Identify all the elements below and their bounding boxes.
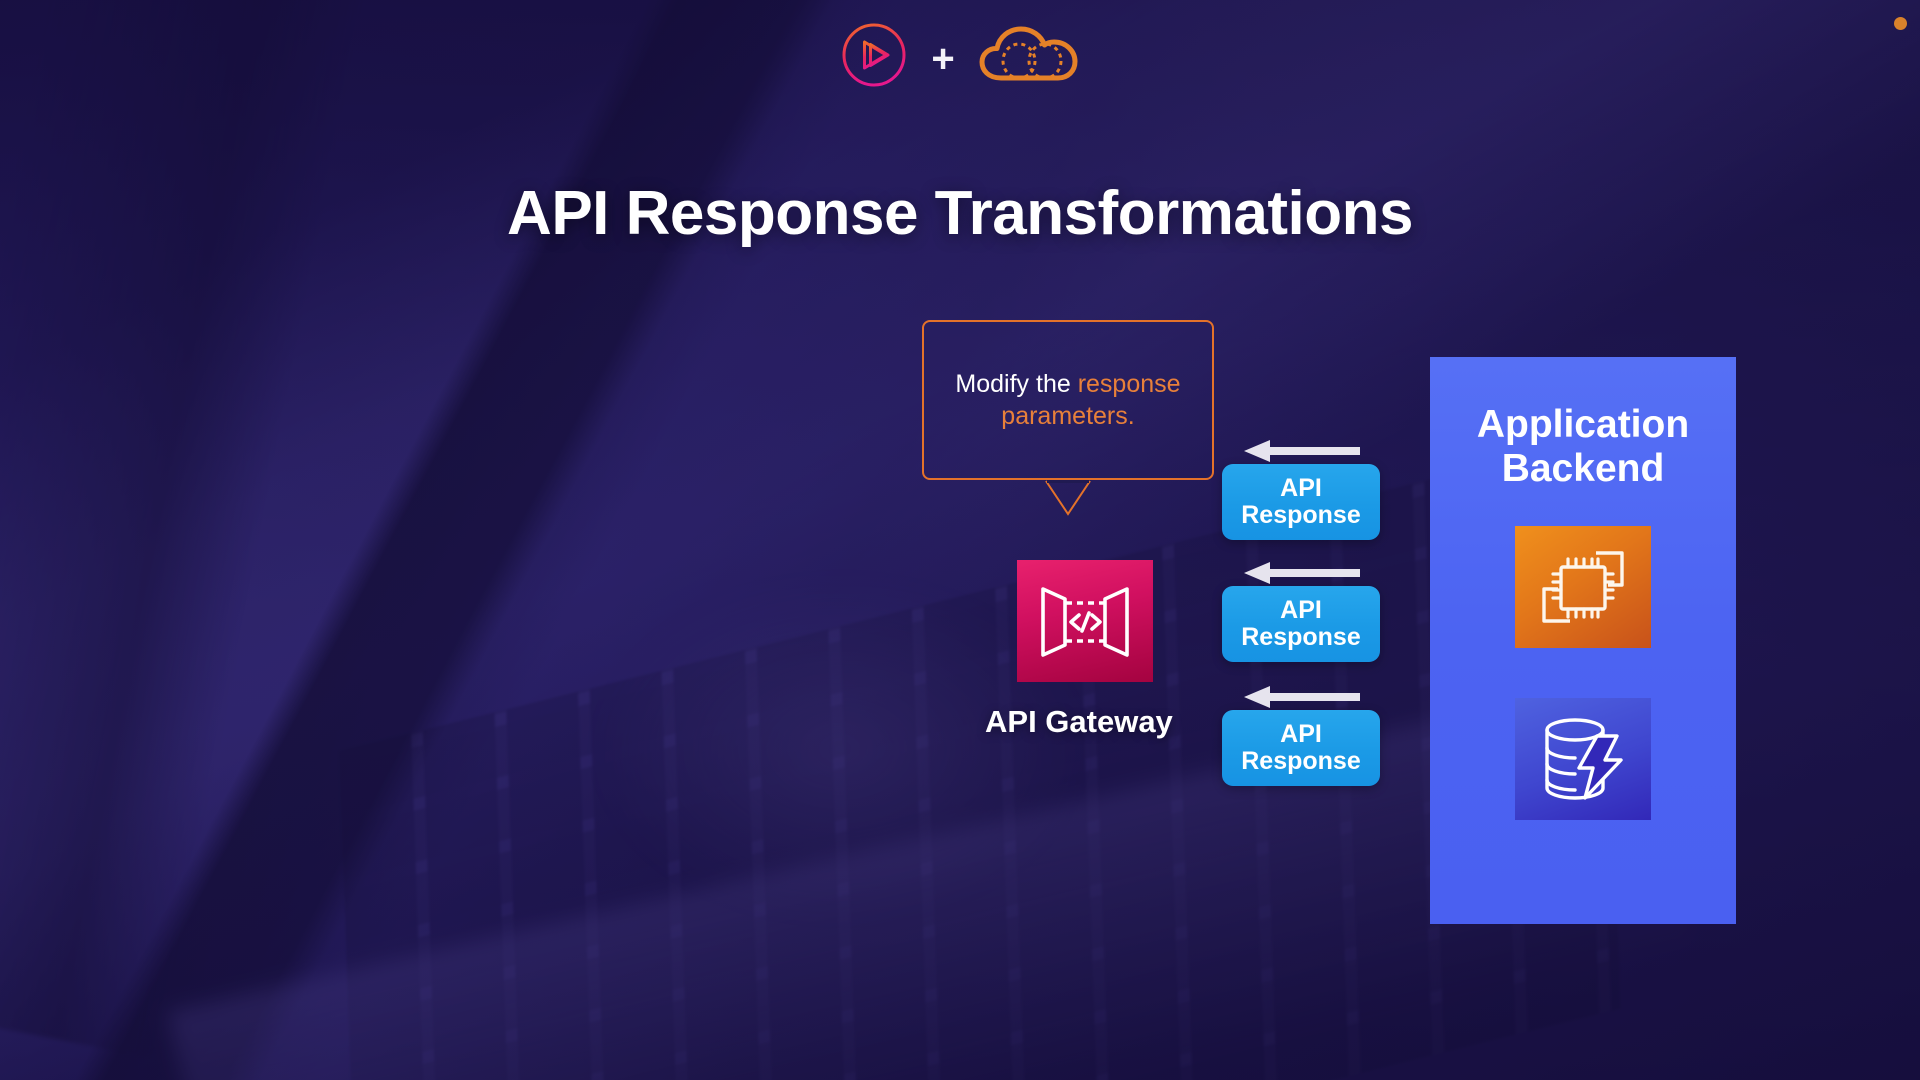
api-response-line1: API [1280,597,1322,624]
logo-row: + [0,20,1920,95]
api-response-column: API Response API Response [1222,438,1380,786]
api-response-line1: API [1280,721,1322,748]
api-response-unit: API Response [1222,438,1380,540]
backend-title-line2: Backend [1430,447,1736,491]
plus-separator: + [931,39,954,79]
cloud-logo-icon [977,20,1081,95]
arrow-left-icon [1244,438,1380,464]
backend-title-line1: Application [1430,403,1736,447]
arrow-left-icon [1244,684,1380,710]
corner-accent-dot [1894,17,1907,30]
api-response-box: API Response [1222,586,1380,662]
callout-tail-icon [1044,480,1092,518]
callout-text-period: . [1128,402,1135,430]
api-response-unit: API Response [1222,684,1380,786]
callout-text-plain: Modify the [955,370,1077,398]
compute-chip-icon [1515,526,1651,648]
api-response-unit: API Response [1222,560,1380,662]
page-title: API Response Transformations [0,178,1920,249]
application-backend-panel: Application Backend [1430,357,1736,924]
callout-bubble: Modify the response parameters. [922,320,1214,480]
postman-logo-icon [839,20,909,95]
api-response-box: API Response [1222,464,1380,540]
api-gateway-icon [1017,560,1153,682]
slide-canvas: + API Response Transformations Modify th… [0,0,1920,1080]
api-response-box: API Response [1222,710,1380,786]
spacer [1222,540,1380,560]
api-response-line1: API [1280,475,1322,502]
callout-text: Modify the response parameters. [924,368,1212,432]
arrow-left-icon [1244,560,1380,586]
api-gateway-node: API Gateway [1017,560,1173,740]
spacer [1222,662,1380,684]
backend-title: Application Backend [1430,403,1736,490]
api-response-line2: Response [1241,502,1360,529]
api-response-line2: Response [1241,748,1360,775]
api-response-line2: Response [1241,624,1360,651]
database-lightning-icon [1515,698,1651,820]
api-gateway-label: API Gateway [985,704,1173,740]
